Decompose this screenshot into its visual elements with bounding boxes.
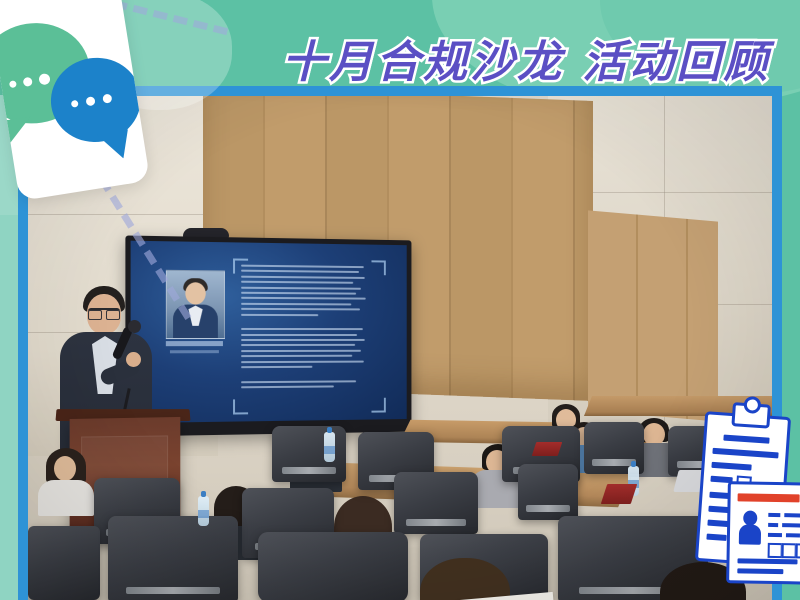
bubble-dot bbox=[71, 100, 79, 108]
id-card-line bbox=[768, 513, 780, 517]
red-notebook bbox=[601, 484, 637, 504]
slide-corner-marker bbox=[233, 258, 248, 273]
bubble-dot bbox=[38, 73, 51, 86]
id-card-line bbox=[782, 523, 800, 527]
conference-chair bbox=[518, 464, 578, 520]
id-card-line bbox=[768, 523, 778, 527]
attendee bbox=[38, 448, 94, 512]
bubble-dot bbox=[102, 93, 112, 103]
avatar-body bbox=[739, 524, 761, 544]
conference-chair bbox=[258, 532, 408, 600]
page-title: 十月合规沙龙 活动回顾 bbox=[282, 26, 770, 90]
bubble-dot bbox=[85, 96, 95, 106]
wood-wall-panel-secondary bbox=[588, 210, 718, 421]
slide-corner-marker bbox=[371, 260, 385, 275]
avatar-head bbox=[743, 510, 757, 525]
bubble-dot bbox=[23, 77, 33, 87]
red-notebook bbox=[532, 442, 563, 456]
portrait-head bbox=[185, 282, 205, 304]
screen-display bbox=[131, 241, 407, 423]
bubble-dots-green bbox=[9, 73, 51, 90]
poster-canvas: 十月合规沙龙 活动回顾 bbox=[0, 0, 800, 600]
id-card-line bbox=[737, 568, 783, 574]
id-card-box bbox=[796, 543, 800, 558]
slide-name-bar bbox=[166, 341, 223, 346]
slide-portrait-photo bbox=[166, 270, 225, 339]
id-card-line bbox=[786, 533, 800, 537]
slide-corner-marker bbox=[233, 399, 248, 414]
clipboard-line bbox=[706, 534, 726, 541]
slide-subtitle-bar bbox=[170, 350, 219, 353]
presenter-hand bbox=[126, 352, 141, 367]
id-card-line bbox=[737, 558, 797, 564]
conference-chair bbox=[108, 516, 238, 600]
id-card-line bbox=[784, 513, 800, 517]
microphone-head bbox=[128, 320, 141, 333]
slide-text-block bbox=[241, 265, 369, 406]
id-card bbox=[726, 481, 800, 584]
bubble-dot bbox=[9, 80, 17, 88]
presenter-glasses bbox=[88, 308, 120, 318]
water-bottle bbox=[324, 432, 335, 462]
id-card-box bbox=[782, 543, 797, 558]
clipboard-id-card bbox=[695, 411, 791, 567]
id-card-header-bar bbox=[738, 493, 800, 502]
conference-chair bbox=[394, 472, 478, 534]
bubble-dots-blue bbox=[71, 93, 113, 108]
id-card-box bbox=[768, 543, 783, 558]
id-card-line bbox=[768, 533, 782, 537]
slide-corner-marker bbox=[371, 398, 385, 413]
id-card-avatar-icon bbox=[738, 510, 763, 544]
conference-chair bbox=[28, 526, 100, 600]
water-bottle bbox=[198, 496, 209, 526]
attendee-foreground bbox=[420, 558, 520, 600]
